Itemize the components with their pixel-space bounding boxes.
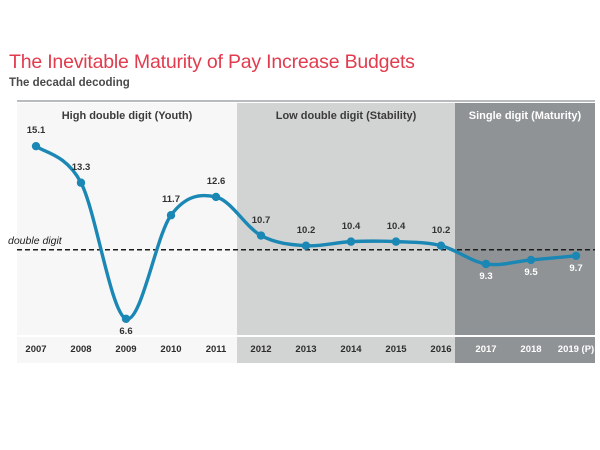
data-point-2017 bbox=[482, 260, 490, 268]
x-tick-2018: 2018 bbox=[520, 344, 541, 355]
page-title: The Inevitable Maturity of Pay Increase … bbox=[9, 50, 594, 74]
x-tick-2010: 2010 bbox=[160, 344, 181, 355]
x-tick-2014: 2014 bbox=[340, 344, 361, 355]
value-label-2015: 10.4 bbox=[387, 221, 406, 232]
data-point-2012 bbox=[257, 231, 265, 239]
value-label-2019-p-: 9.7 bbox=[569, 263, 582, 274]
data-point-2008 bbox=[77, 179, 85, 187]
chart-header: The Inevitable Maturity of Pay Increase … bbox=[9, 50, 594, 91]
x-tick-2013: 2013 bbox=[295, 344, 316, 355]
value-label-2014: 10.4 bbox=[342, 221, 361, 232]
data-point-2016 bbox=[437, 241, 445, 249]
data-point-2010 bbox=[167, 211, 175, 219]
x-tick-2011: 2011 bbox=[206, 344, 227, 355]
x-tick-2015: 2015 bbox=[385, 344, 406, 355]
x-tick-2016: 2016 bbox=[430, 344, 451, 355]
value-label-2017: 9.3 bbox=[479, 271, 492, 282]
data-point-2009 bbox=[122, 315, 130, 323]
value-label-2016: 10.2 bbox=[432, 225, 451, 236]
data-point-2014 bbox=[347, 237, 355, 245]
data-point-2007 bbox=[32, 142, 40, 150]
data-point-2011 bbox=[212, 193, 220, 201]
x-tick-2007: 2007 bbox=[25, 344, 46, 355]
value-label-2007: 15.1 bbox=[27, 125, 46, 136]
x-tick-2017: 2017 bbox=[475, 344, 496, 355]
value-label-2010: 11.7 bbox=[162, 194, 180, 205]
value-label-2008: 13.3 bbox=[72, 162, 91, 173]
header-divider bbox=[17, 100, 595, 102]
data-point-2015 bbox=[392, 237, 400, 245]
value-label-2013: 10.2 bbox=[297, 225, 316, 236]
chart-plot-area: High double digit (Youth) Low double dig… bbox=[17, 103, 595, 363]
x-tick-2019-p-: 2019 (P) bbox=[558, 344, 594, 355]
x-tick-2012: 2012 bbox=[250, 344, 271, 355]
x-tick-2009: 2009 bbox=[115, 344, 136, 355]
data-point-2013 bbox=[302, 241, 310, 249]
data-point-2018 bbox=[527, 256, 535, 264]
value-label-2011: 12.6 bbox=[207, 176, 226, 187]
data-point-2019-p- bbox=[572, 252, 580, 260]
value-label-2012: 10.7 bbox=[252, 215, 271, 226]
threshold-label: double digit bbox=[8, 235, 62, 247]
value-label-2018: 9.5 bbox=[524, 267, 537, 278]
x-axis: 2007200820092010201120122013201420152016… bbox=[17, 337, 595, 363]
value-label-2009: 6.6 bbox=[119, 326, 132, 337]
page-subtitle: The decadal decoding bbox=[9, 75, 594, 91]
x-tick-2008: 2008 bbox=[70, 344, 91, 355]
